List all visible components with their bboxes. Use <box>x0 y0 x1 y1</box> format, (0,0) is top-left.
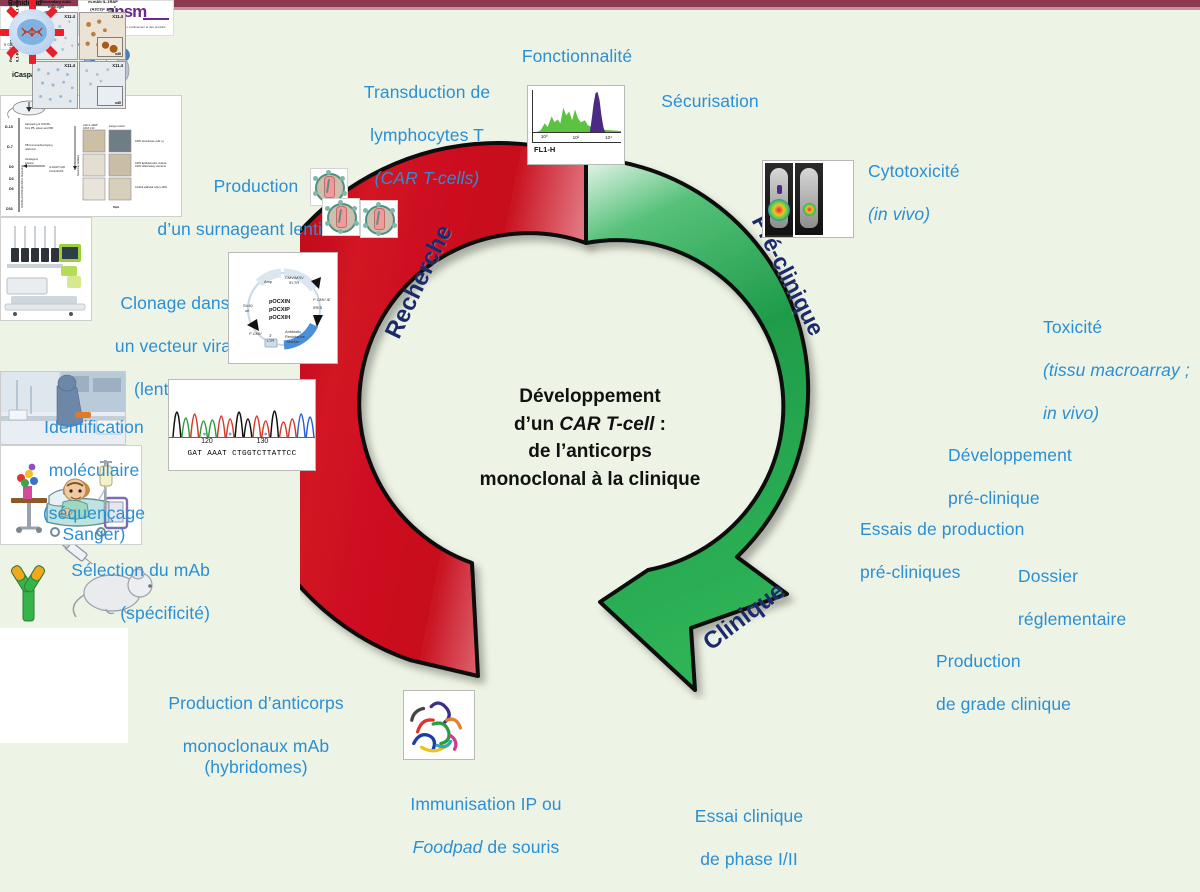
svg-text:A3C3 1:20: A3C3 1:20 <box>83 127 95 130</box>
antibody-icon <box>0 561 56 623</box>
lentivirus-particle-2 <box>322 198 360 236</box>
flow-x-axis-label: FL1-H <box>534 145 622 154</box>
mab-cell-3: X11.4 <box>32 61 78 109</box>
mouse-image-2 <box>795 163 823 235</box>
flow-tick-2: 10⁴ <box>605 135 612 140</box>
svg-text:D-15: D-15 <box>5 125 13 129</box>
label-essai-clinique: Essai clinique de phase I/II <box>676 785 822 892</box>
diagram-canvas: Recherche Pré-clinique Clinique Développ… <box>0 0 1200 843</box>
svg-text:hCD45+/hCD19+/hCD33+ Monitorin: hCD45+/hCD19+/hCD33+ Monitoring <box>20 164 24 208</box>
figure-bioluminescence-mice <box>762 160 854 238</box>
figure-preclinical-development-device <box>0 217 92 321</box>
label-immunisation: Immunisation IP ou Foodpad de souris <box>396 773 576 880</box>
svg-text:D0: D0 <box>9 165 14 169</box>
svg-text:IRES: IRES <box>313 305 323 310</box>
svg-text:from PB, spleen and BM: from PB, spleen and BM <box>25 126 53 130</box>
flow-population-untransduced <box>535 108 621 133</box>
svg-text:D-7: D-7 <box>7 145 13 149</box>
flow-x-ticks: 10⁰ 10² 10⁴ <box>533 132 621 140</box>
svg-text:pOCXIP: pOCXIP <box>269 307 290 313</box>
sanger-trace <box>169 380 315 438</box>
svg-text:Autologous: Autologous <box>25 157 39 161</box>
mab-cell-2: X11.4 x40 <box>79 12 126 60</box>
svg-text:100% Granulocyte cells (+): 100% Granulocyte cells (+) <box>135 140 164 143</box>
svg-text:P CMV IE: P CMV IE <box>313 297 331 302</box>
sanger-position-120: 120 <box>201 438 213 445</box>
top-accent-bar-highlight <box>0 7 1200 10</box>
mab-cell-4-inset: x40 <box>97 86 123 106</box>
svg-text:Marker: Marker <box>287 339 300 344</box>
svg-text:Harvesting of hCD45+: Harvesting of hCD45+ <box>25 122 51 126</box>
label-identification-moleculaire: Identification moléculaire (séquençage S… <box>20 396 168 567</box>
title-line-2: d’un CAR T-cell : <box>440 411 740 439</box>
svg-text:Control/CD3: Control/CD3 <box>49 169 64 173</box>
figure-flow-cytometry: 10⁰ 10² 10⁴ FL1-H <box>527 85 625 165</box>
ansm-rule <box>143 18 169 20</box>
title-line-4: monoclonal à la clinique <box>440 466 740 494</box>
label-transduction: Transduction de lymphocytes T (CAR T-cel… <box>352 61 502 210</box>
figure-sanger-sequencing: 120 130 GAT AAAT CTGGTCTTATTCC <box>168 379 316 471</box>
label-securisation: Sécurisation <box>645 70 775 134</box>
svg-text:50µm: 50µm <box>113 206 119 209</box>
svg-text:5'LTR: 5'LTR <box>289 280 299 285</box>
svg-text:PB immunophenotyping: PB immunophenotyping <box>25 143 53 147</box>
svg-text:pOCXIH: pOCXIH <box>269 315 290 321</box>
label-production-anticorps: Production d’anticorps monoclonaux mAb (… <box>152 672 360 800</box>
svg-text:LTR: LTR <box>267 338 274 343</box>
title-line-3: de l’anticorps <box>440 438 740 466</box>
flow-plot: 10⁰ 10² 10⁴ <box>532 90 621 143</box>
page-title: Développement d’un CAR T-cell : de l’ant… <box>440 383 740 493</box>
label-cytotoxicite: Cytotoxicité (in vivo) <box>868 140 1028 247</box>
svg-text:reference: reference <box>25 147 37 151</box>
mouse-image-3 <box>765 235 793 238</box>
top-accent-bar <box>0 0 1200 10</box>
title-line-1: Développement <box>440 383 740 411</box>
svg-text:Secondary antibody: Secondary antibody <box>77 154 80 176</box>
mab-cell-2-inset: x40 <box>97 37 123 57</box>
mab-cell-4: X11.4 x40 <box>79 61 126 109</box>
sanger-positions: 120 130 <box>169 438 315 449</box>
mouse-image-1 <box>765 163 793 235</box>
flow-tick-1: 10² <box>573 135 580 140</box>
flow-population-car-positive <box>590 92 606 133</box>
lentivirus-particle-3 <box>360 200 398 238</box>
figure-plasmid-map: CMV/MSV 5'LTR Amp SV40ori IRES P CMV IE … <box>228 252 338 364</box>
figure-protein-structure <box>403 690 475 760</box>
label-production-grade-clinique: Production de grade clinique <box>936 630 1106 737</box>
svg-text:D3: D3 <box>9 177 14 181</box>
mab-col-header-2: m-mAb IL-1RAP(A3C3)= 1:20e <box>80 0 126 12</box>
sanger-sequence: GAT AAAT CTGGTCTTATTCC <box>169 449 315 462</box>
svg-text:Amp: Amp <box>264 279 273 284</box>
svg-text:D6: D6 <box>9 187 14 191</box>
dna-icon <box>21 27 43 37</box>
svg-text:P CMV: P CMV <box>249 331 262 336</box>
car-t-cell-icon <box>0 743 64 807</box>
svg-text:D33: D33 <box>6 207 13 211</box>
svg-text:IL-1RAP CAR: IL-1RAP CAR <box>49 165 65 169</box>
label-toxicite: Toxicité (tissu macroarray ; in vivo) <box>1043 296 1200 445</box>
sanger-position-130: 130 <box>257 438 269 445</box>
svg-text:pOCXIN: pOCXIN <box>269 299 290 305</box>
flow-tick-0: 10⁰ <box>541 134 548 140</box>
svg-text:Isotype control: Isotype control <box>109 125 125 128</box>
svg-text:ori: ori <box>245 308 250 313</box>
